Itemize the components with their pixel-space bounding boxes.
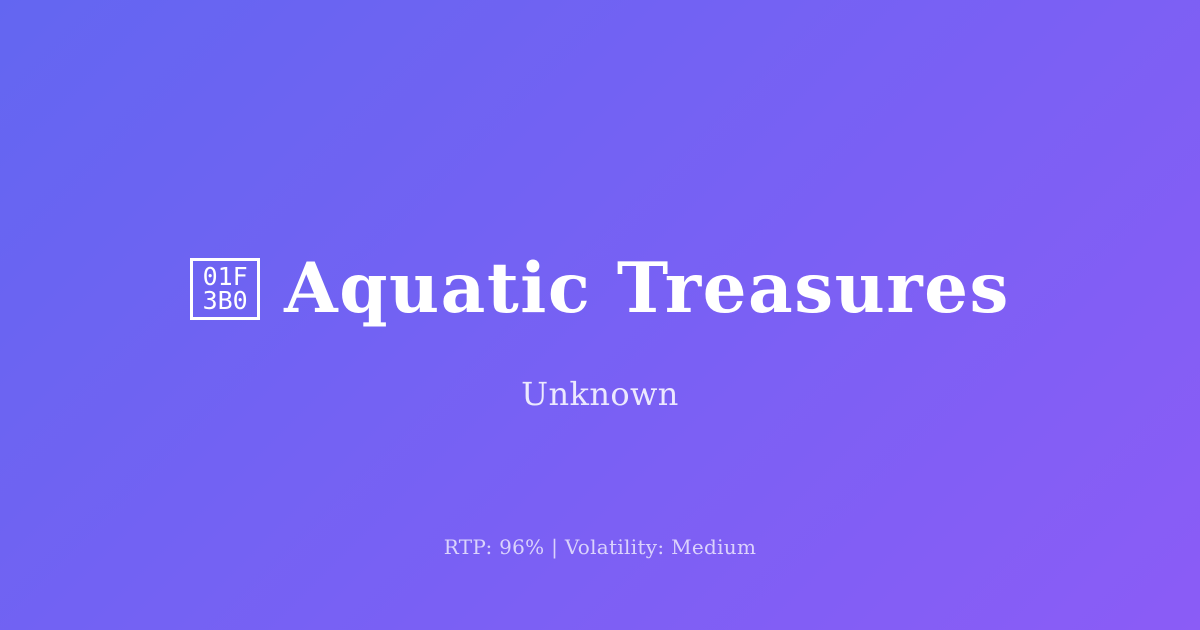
page-title: Aquatic Treasures	[284, 253, 1010, 325]
slot-machine-icon: 01F 3B0	[190, 258, 260, 320]
title-row: 01F 3B0 Aquatic Treasures	[0, 253, 1200, 325]
hero-section: 01F 3B0 Aquatic Treasures Unknown	[0, 253, 1200, 414]
tofu-codepoint-lower: 3B0	[203, 289, 248, 313]
game-promo-card: { "theme": { "gradient_from": "#6366f1",…	[0, 0, 1200, 630]
game-stats-footer: RTP: 96% | Volatility: Medium	[0, 534, 1200, 560]
game-provider-subtitle: Unknown	[521, 375, 679, 413]
